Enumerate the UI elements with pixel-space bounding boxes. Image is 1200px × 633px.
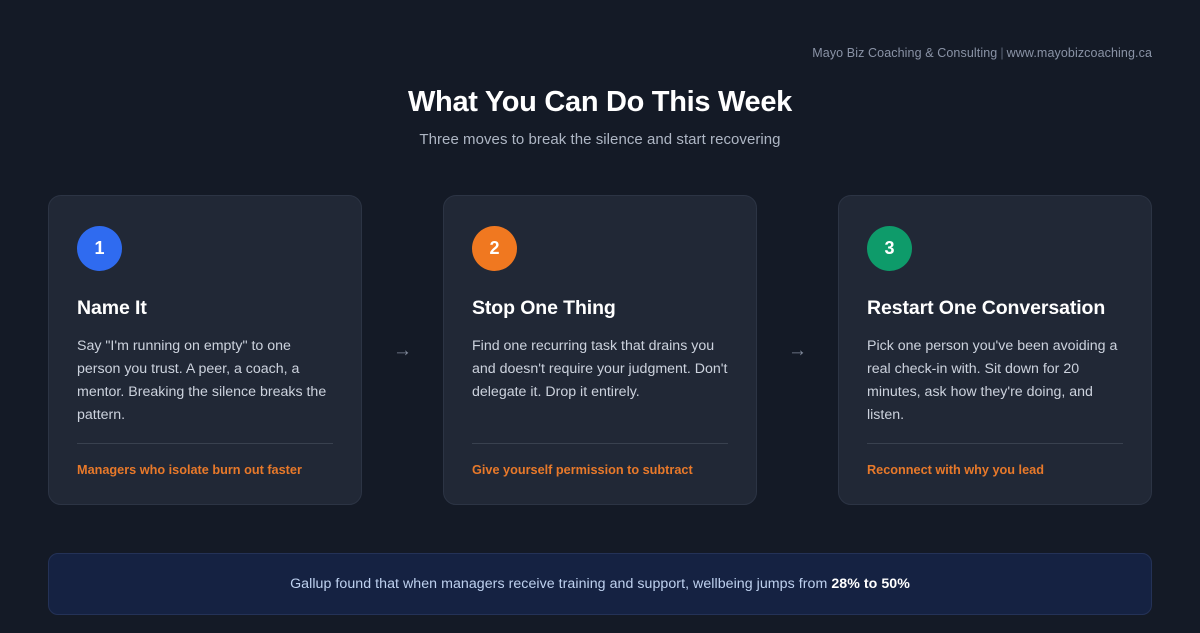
step-number-badge-1: 1 <box>77 226 122 271</box>
statistic-banner: Gallup found that when managers receive … <box>48 553 1152 615</box>
page-title: What You Can Do This Week <box>0 86 1200 119</box>
brand-website: www.mayobizcoaching.ca <box>1007 46 1152 60</box>
brand-attribution: Mayo Biz Coaching & Consulting|www.mayob… <box>812 46 1152 60</box>
statistic-lead-text: Gallup found that when managers receive … <box>290 576 831 592</box>
step-title-2: Stop One Thing <box>472 297 728 320</box>
slide-root: Mayo Biz Coaching & Consulting|www.mayob… <box>0 0 1200 633</box>
step-note-2: Give yourself permission to subtract <box>472 462 728 479</box>
step-card-2: 2 Stop One Thing Find one recurring task… <box>443 195 757 505</box>
step-card-3: 3 Restart One Conversation Pick one pers… <box>838 195 1152 505</box>
statistic-banner-text: Gallup found that when managers receive … <box>290 576 910 592</box>
statistic-highlight: 28% to 50% <box>831 576 910 592</box>
step-card-1: 1 Name It Say "I'm running on empty" to … <box>48 195 362 505</box>
card-divider <box>472 443 728 444</box>
page-subtitle: Three moves to break the silence and sta… <box>0 131 1200 148</box>
step-body-2: Find one recurring task that drains you … <box>472 335 728 404</box>
header: What You Can Do This Week Three moves to… <box>0 86 1200 148</box>
step-number-badge-3: 3 <box>867 226 912 271</box>
brand-separator: | <box>997 46 1006 60</box>
card-spacer <box>867 427 1123 442</box>
step-body-1: Say "I'm running on empty" to one person… <box>77 335 333 427</box>
arrow-connector-2: → <box>757 195 838 505</box>
step-title-1: Name It <box>77 297 333 320</box>
brand-company: Mayo Biz Coaching & Consulting <box>812 46 997 60</box>
step-number-label: 3 <box>884 238 894 259</box>
step-note-3: Reconnect with why you lead <box>867 462 1123 479</box>
step-note-1: Managers who isolate burn out faster <box>77 462 333 479</box>
card-spacer <box>77 427 333 442</box>
step-number-label: 1 <box>94 238 104 259</box>
step-number-badge-2: 2 <box>472 226 517 271</box>
card-divider <box>77 443 333 444</box>
card-divider <box>867 443 1123 444</box>
step-body-3: Pick one person you've been avoiding a r… <box>867 335 1123 427</box>
arrow-connector-1: → <box>362 195 443 505</box>
steps-row: 1 Name It Say "I'm running on empty" to … <box>48 195 1152 505</box>
card-spacer <box>472 404 728 442</box>
step-title-3: Restart One Conversation <box>867 297 1123 320</box>
step-number-label: 2 <box>489 238 499 259</box>
